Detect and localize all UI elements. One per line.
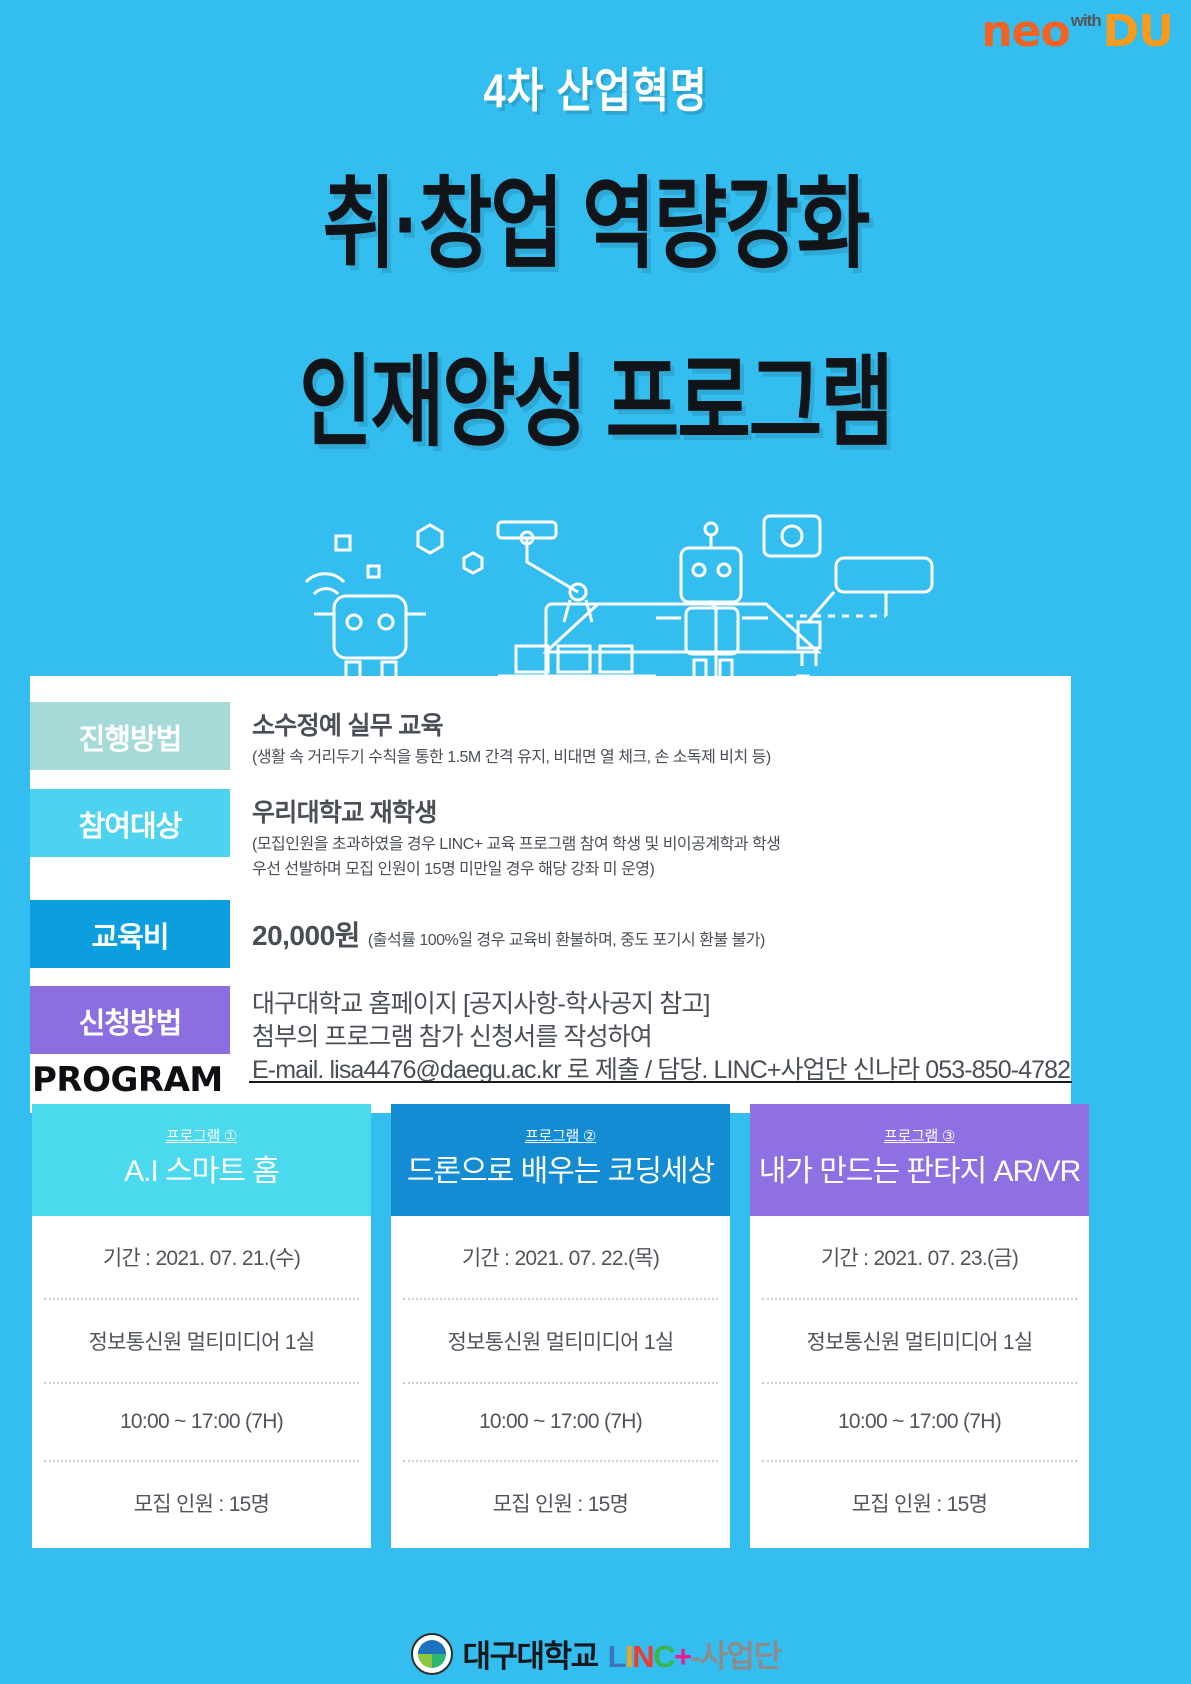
- linc-letter-c: C: [653, 1639, 674, 1674]
- program-card-header: 프로그램 ① A.I 스마트 홈: [32, 1104, 371, 1216]
- program-card-capacity: 모집 인원 : 15명: [44, 1462, 359, 1548]
- program-card-title: 드론으로 배우는 코딩세상: [399, 1154, 722, 1191]
- program-card-place: 정보통신원 멀티미디어 1실: [403, 1300, 718, 1384]
- program-card-title: A.I 스마트 홈: [40, 1154, 363, 1191]
- linc-suffix-label: -사업단: [691, 1639, 781, 1674]
- footer-university-name: 대구대학교: [463, 1631, 598, 1676]
- info-head-method: 소수정예 실무 교육: [252, 706, 771, 742]
- program-card-place: 정보통신원 멀티미디어 1실: [762, 1300, 1077, 1384]
- program-card-period: 기간 : 2021. 07. 21.(수): [44, 1216, 359, 1300]
- linc-plus-logo: LINC+-사업단: [608, 1631, 781, 1676]
- linc-letter-plus: +: [674, 1639, 691, 1674]
- info-sub-target-line-2: 우선 선발하며 모집 인원이 15명 미만일 경우 해당 강좌 미 운영): [252, 858, 780, 883]
- program-card-list: 프로그램 ① A.I 스마트 홈 기간 : 2021. 07. 21.(수) 정…: [32, 1104, 1160, 1548]
- logo-with-text: with: [1071, 12, 1101, 29]
- info-label-method: 진행방법: [30, 702, 230, 770]
- linc-letter-n: N: [632, 1639, 653, 1674]
- fee-line: 20,000원 (출석률 100%일 경우 교육비 환불하며, 중도 포기시 환…: [252, 904, 765, 954]
- headline-line-2: 인재양성 프로그램: [0, 322, 1191, 467]
- info-sub-target-line-1: (모집인원을 초과하였을 경우 LINC+ 교육 프로그램 참여 학생 및 비이…: [252, 833, 780, 858]
- daegu-university-emblem-icon: [411, 1633, 453, 1675]
- program-card-header: 프로그램 ③ 내가 만드는 판타지 AR/VR: [750, 1104, 1089, 1216]
- info-panel: 진행방법 소수정예 실무 교육 (생활 속 거리두기 수칙을 통한 1.5M 간…: [30, 676, 1071, 1113]
- program-card-time: 10:00 ~ 17:00 (7H): [762, 1384, 1077, 1462]
- info-body-method: 소수정예 실무 교육 (생활 속 거리두기 수칙을 통한 1.5M 간격 유지,…: [230, 702, 771, 771]
- program-card-index: 프로그램 ②: [399, 1125, 722, 1146]
- program-card-body: 기간 : 2021. 07. 21.(수) 정보통신원 멀티미디어 1실 10:…: [32, 1216, 371, 1548]
- program-card-period: 기간 : 2021. 07. 23.(금): [762, 1216, 1077, 1300]
- fee-amount: 20,000원: [252, 914, 360, 954]
- apply-line-1: 대구대학교 홈페이지 [공지사항-학사공지 참고]: [252, 988, 1070, 1021]
- program-card-place: 정보통신원 멀티미디어 1실: [44, 1300, 359, 1384]
- neo-with-du-logo: neo with DU: [981, 10, 1173, 54]
- program-card-body: 기간 : 2021. 07. 23.(금) 정보통신원 멀티미디어 1실 10:…: [750, 1216, 1089, 1548]
- headline-kicker: 4차 산업혁명: [483, 53, 707, 121]
- program-section-title: PROGRAM: [32, 1060, 223, 1100]
- info-body-fee: 20,000원 (출석률 100%일 경우 교육비 환불하며, 중도 포기시 환…: [230, 900, 765, 954]
- headline-line-1: 취·창업 역량강화: [0, 144, 1191, 289]
- emblem-inner-shape: [418, 1640, 446, 1668]
- program-card-body: 기간 : 2021. 07. 22.(목) 정보통신원 멀티미디어 1실 10:…: [391, 1216, 730, 1548]
- program-section-header: PROGRAM: [32, 1060, 1072, 1100]
- program-card[interactable]: 프로그램 ① A.I 스마트 홈 기간 : 2021. 07. 21.(수) 정…: [32, 1104, 371, 1548]
- program-divider: [249, 1081, 1072, 1083]
- info-row-fee: 교육비 20,000원 (출석률 100%일 경우 교육비 환불하며, 중도 포…: [30, 900, 1071, 968]
- info-body-target: 우리대학교 재학생 (모집인원을 초과하였을 경우 LINC+ 교육 프로그램 …: [230, 789, 780, 883]
- info-label-apply: 신청방법: [30, 986, 230, 1054]
- logo-du-text: DU: [1103, 10, 1173, 54]
- info-row-method: 진행방법 소수정예 실무 교육 (생활 속 거리두기 수칙을 통한 1.5M 간…: [30, 702, 1071, 771]
- program-card[interactable]: 프로그램 ③ 내가 만드는 판타지 AR/VR 기간 : 2021. 07. 2…: [750, 1104, 1089, 1548]
- logo-neo-text: neo: [981, 10, 1069, 54]
- fee-note: (출석률 100%일 경우 교육비 환불하며, 중도 포기시 환불 불가): [368, 926, 765, 950]
- footer-logos: 대구대학교 LINC+-사업단: [0, 1631, 1191, 1676]
- linc-letter-l: L: [608, 1639, 625, 1674]
- program-card-time: 10:00 ~ 17:00 (7H): [403, 1384, 718, 1462]
- info-sub-method: (생활 속 거리두기 수칙을 통한 1.5M 간격 유지, 비대면 열 체크, …: [252, 746, 771, 771]
- program-card-period: 기간 : 2021. 07. 22.(목): [403, 1216, 718, 1300]
- program-card[interactable]: 프로그램 ② 드론으로 배우는 코딩세상 기간 : 2021. 07. 22.(…: [391, 1104, 730, 1548]
- program-card-index: 프로그램 ③: [758, 1125, 1081, 1146]
- program-card-header: 프로그램 ② 드론으로 배우는 코딩세상: [391, 1104, 730, 1216]
- program-card-index: 프로그램 ①: [40, 1125, 363, 1146]
- program-card-title: 내가 만드는 판타지 AR/VR: [758, 1154, 1081, 1191]
- poster-headline: 4차 산업혁명 취·창업 역량강화 인재양성 프로그램: [0, 0, 1191, 452]
- info-head-target: 우리대학교 재학생: [252, 793, 780, 829]
- program-card-capacity: 모집 인원 : 15명: [762, 1462, 1077, 1548]
- program-card-capacity: 모집 인원 : 15명: [403, 1462, 718, 1548]
- info-row-target: 참여대상 우리대학교 재학생 (모집인원을 초과하였을 경우 LINC+ 교육 …: [30, 789, 1071, 883]
- info-label-fee: 교육비: [30, 900, 230, 968]
- apply-line-2: 첨부의 프로그램 참가 신청서를 작성하여: [252, 1021, 1070, 1054]
- program-card-time: 10:00 ~ 17:00 (7H): [44, 1384, 359, 1462]
- info-label-target: 참여대상: [30, 789, 230, 857]
